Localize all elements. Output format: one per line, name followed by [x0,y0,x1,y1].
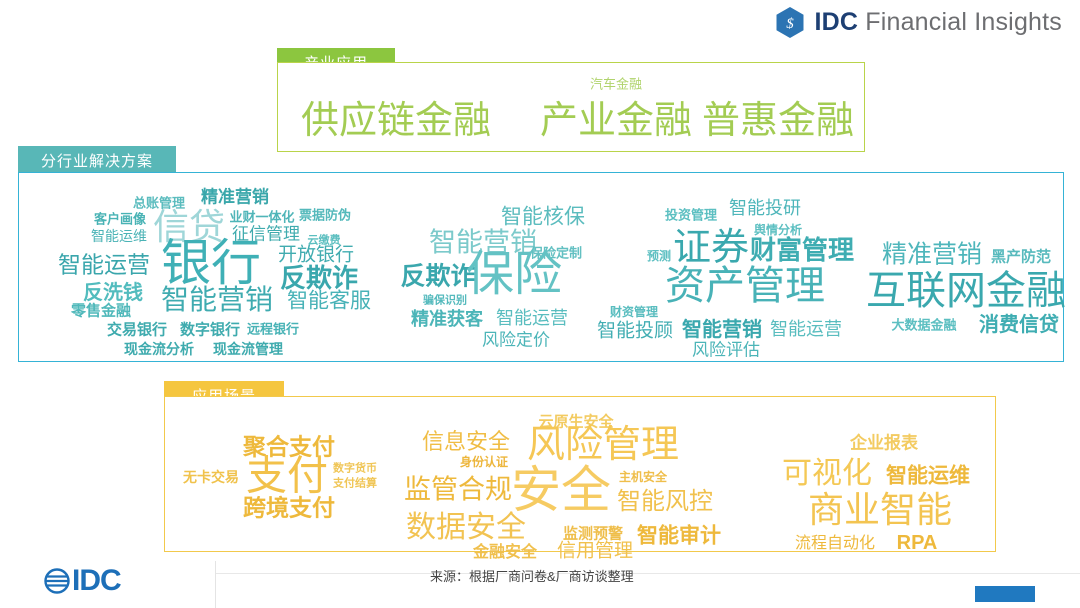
idc-globe-icon [44,568,70,594]
wordcloud-term: 精准营销 [201,189,269,206]
wordcloud-term: 骗保识别 [423,296,467,307]
brand-suffix: Financial Insights [858,8,1062,36]
wordcloud-term: 跨境支付 [243,497,335,520]
wordcloud-term: 智能营销 [161,286,273,314]
wordcloud-term: 财富管理 [750,237,854,263]
wordcloud-term: 零售金融 [71,304,131,319]
wordcloud-term: 现金流分析 [124,342,194,356]
wordcloud-term: 信息安全 [422,431,510,453]
wordcloud-term: 数字货币 [333,464,377,475]
wordcloud-term: 智能审计 [637,526,721,547]
wordcloud-term: 票据防伪 [299,209,351,222]
wordcloud-term: 智能运营 [770,320,842,338]
wordcloud-term: 精准获客 [411,310,483,328]
wordcloud-term: 交易银行 [107,323,167,338]
wordcloud-term: 现金流管理 [213,342,283,356]
wordcloud-term: 客户画像 [94,213,146,226]
wordcloud-term: 反洗钱 [83,283,143,303]
idc-hexagon-dollar-icon: $ [775,6,805,39]
wordcloud-term: 数字银行 [180,323,240,338]
wordcloud-industry: 汽车金融供应链金融产业金融普惠金融 [278,63,864,151]
wordcloud-term: 证券 [673,229,749,267]
section-tag-solutions: 分行业解决方案 [18,146,176,174]
footer-accent-block [975,586,1035,602]
wordcloud-term: 保险 [466,251,562,299]
brand-text: IDC Financial Insights [814,8,1062,37]
section-panel-scenarios: 聚合支付无卡交易支付数字货币支付结算跨境支付云原生安全信息安全风险管理身份认证监… [164,396,996,552]
idc-footer-logo: IDC [44,566,121,596]
wordcloud-term: 智能客服 [287,291,371,312]
wordcloud-scenarios: 聚合支付无卡交易支付数字货币支付结算跨境支付云原生安全信息安全风险管理身份认证监… [165,397,995,551]
wordcloud-term: 精准营销 [882,243,982,268]
wordcloud-term: 主机安全 [619,471,667,483]
wordcloud-term: 汽车金融 [590,78,642,91]
wordcloud-term: 智能运营 [58,254,150,277]
wordcloud-term: 开放银行 [278,246,354,265]
wordcloud-term: 大数据金融 [891,319,956,332]
wordcloud-term: 资产管理 [665,266,825,306]
idc-footer-wordmark: IDC [72,566,121,596]
wordcloud-term: 无卡交易 [183,470,239,484]
wordcloud-term: 供应链金融 [301,102,491,140]
wordcloud-term: 预测 [647,250,671,262]
wordcloud-term: 智能投研 [729,199,801,217]
idc-financial-insights-logo: $ IDC Financial Insights [775,6,1062,39]
wordcloud-term: 支付结算 [333,479,377,490]
wordcloud-term: 智能投顾 [597,322,673,341]
wordcloud-term: 安全 [511,465,611,515]
wordcloud-term: 身份认证 [460,456,508,468]
wordcloud-term: 业财一体化 [229,211,294,224]
svg-text:$: $ [787,16,795,32]
wordcloud-term: 产业金融 [540,102,692,140]
wordcloud-term: 智能营销 [682,320,762,340]
wordcloud-term: 消费信贷 [979,315,1059,335]
wordcloud-term: 智能核保 [501,207,585,228]
wordcloud-solutions: 总账管理精准营销客户画像信贷业财一体化票据防伪智能运维征信管理云缴费智能运营银行… [19,173,1063,361]
wordcloud-term: 商业智能 [808,492,952,528]
wordcloud-term: 反欺诈 [400,265,475,290]
wordcloud-term: 风险评估 [692,342,760,359]
wordcloud-term: 风险定价 [482,332,550,349]
slide-canvas: $ IDC Financial Insights 产业应用 汽车金融供应链金融产… [0,0,1080,608]
wordcloud-term: 智能运维 [91,229,147,243]
wordcloud-term: 投资管理 [665,209,717,222]
wordcloud-term: 远程银行 [247,323,299,336]
wordcloud-term: 普惠金融 [702,102,854,140]
wordcloud-term: 监测预警 [563,527,623,542]
wordcloud-term: 数据安全 [406,513,526,543]
wordcloud-term: 支付 [246,456,328,497]
wordcloud-term: 智能风控 [617,490,713,514]
source-note: 来源：根据厂商问卷&厂商访谈整理 [430,566,634,585]
wordcloud-term: 反欺诈 [280,265,358,291]
wordcloud-term: 信用管理 [557,542,633,561]
wordcloud-term: 可视化 [782,459,872,489]
wordcloud-term: 企业报表 [850,435,918,452]
section-panel-solutions: 总账管理精准营销客户画像信贷业财一体化票据防伪智能运维征信管理云缴费智能运营银行… [18,172,1064,362]
wordcloud-term: 智能运营 [496,309,568,327]
wordcloud-term: 财资管理 [610,306,658,318]
wordcloud-term: 金融安全 [473,545,537,561]
wordcloud-term: 互联网金融 [866,271,1066,311]
wordcloud-term: 风险管理 [527,426,679,464]
wordcloud-term: RPA [897,533,938,553]
wordcloud-term: 智能运维 [886,466,970,487]
section-panel-industry: 汽车金融供应链金融产业金融普惠金融 [277,62,865,152]
wordcloud-term: 黑产防范 [991,250,1051,265]
section-tag-solutions-label: 分行业解决方案 [41,150,153,171]
wordcloud-term: 监管合规 [404,477,512,504]
brand-idc: IDC [814,8,858,36]
wordcloud-term: 银行 [161,238,261,288]
wordcloud-term: 流程自动化 [795,536,875,552]
